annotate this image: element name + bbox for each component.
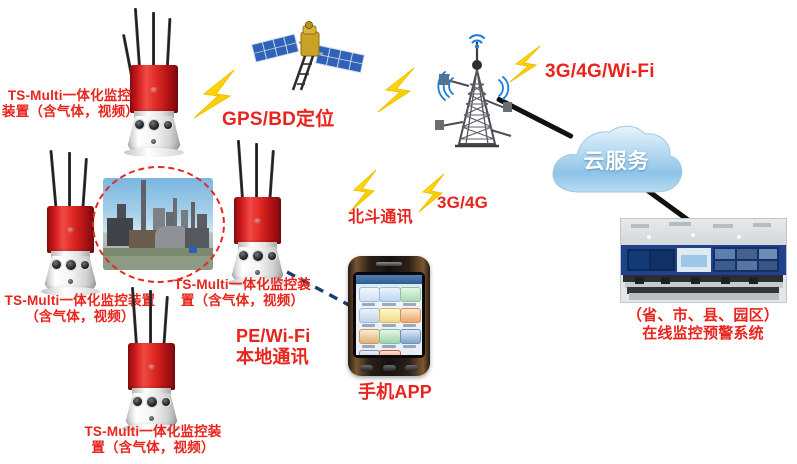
monitoring-device-mid-center[interactable]: [215, 140, 303, 288]
control-room-photo: [620, 218, 787, 303]
cell-tower[interactable]: [425, 22, 527, 162]
app-icon[interactable]: [379, 350, 400, 355]
app-icon[interactable]: [379, 329, 400, 344]
app-icon[interactable]: [359, 329, 380, 344]
tablet-button-center[interactable]: [383, 365, 396, 371]
app-icon[interactable]: [379, 308, 400, 323]
device-label-bottom: TS-Multi一体化监控装 置（含气体，视频）: [63, 424, 243, 457]
lightning-bolt-gps-right: [376, 66, 432, 114]
cloud-label: 云服务: [544, 145, 689, 175]
app-icon[interactable]: [359, 350, 380, 355]
app-icon[interactable]: [400, 329, 421, 344]
tablet-buttons[interactable]: [360, 365, 418, 371]
device-label-top-left: TS-Multi一体化监控 装置（含气体，视频）: [2, 88, 137, 121]
plant-highlight-circle: [92, 166, 225, 283]
monitoring-device-bottom[interactable]: [108, 287, 196, 435]
control-room-label: （省、市、县、园区） 在线监控预警系统: [608, 307, 797, 344]
tablet-button-right[interactable]: [405, 365, 418, 371]
gps-link-label: GPS/BD定位: [222, 108, 372, 131]
app-icon[interactable]: [400, 308, 421, 323]
mobile-app-device[interactable]: [348, 256, 430, 376]
cellular-link-label: 3G/4G: [437, 193, 527, 214]
wireless-link-label: 3G/4G/Wi-Fi: [545, 60, 715, 83]
app-icon[interactable]: [359, 287, 380, 302]
cloud-service[interactable]: 云服务: [544, 118, 689, 200]
local-link-label: PE/Wi-Fi 本地通讯: [236, 326, 356, 368]
app-icon-grid[interactable]: [356, 284, 422, 355]
monitoring-device-top-left[interactable]: [110, 8, 198, 158]
mobile-app-label: 手机APP: [340, 382, 450, 404]
speaker-grill: [376, 262, 402, 266]
app-icon[interactable]: [400, 287, 421, 302]
satellite[interactable]: [243, 8, 371, 96]
tablet-statusbar: [356, 275, 422, 284]
tablet-screen[interactable]: [356, 275, 422, 355]
app-icon[interactable]: [359, 308, 380, 323]
app-icon[interactable]: [379, 287, 400, 302]
tablet-button-left[interactable]: [360, 365, 373, 371]
diagram-canvas: TS-Multi一体化监控 装置（含气体，视频） TS-Multi一体化监控装置…: [0, 0, 797, 464]
